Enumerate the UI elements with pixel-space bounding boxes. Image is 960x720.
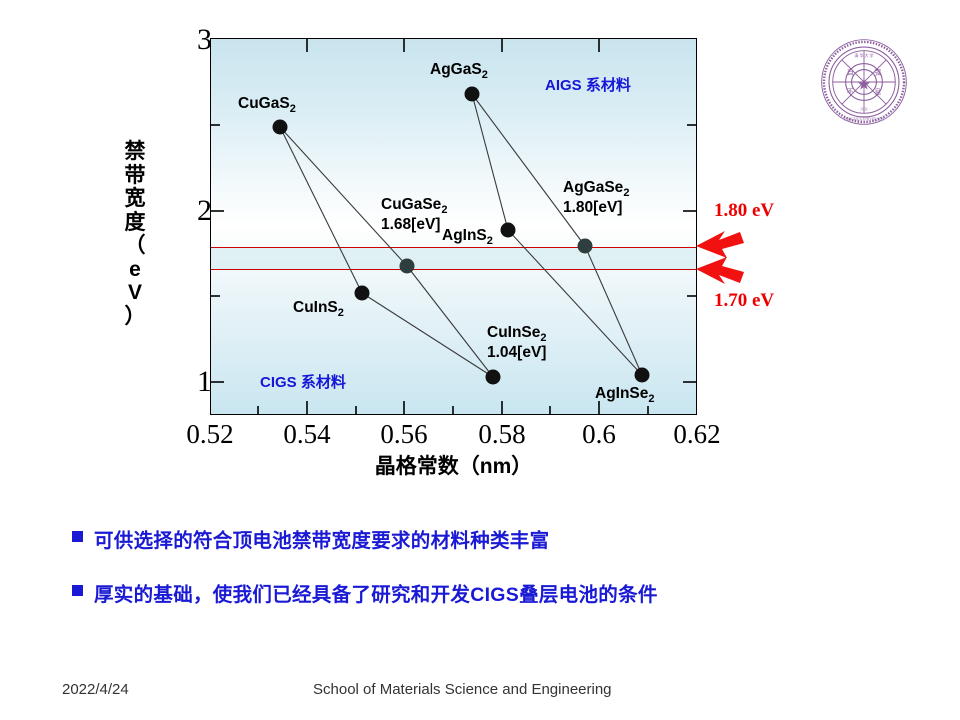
label-aggase2-value: 1.80[eV] <box>563 200 629 216</box>
callout-label-1p80: 1.80 eV <box>714 200 774 222</box>
x-tick-0p58: 0.58 <box>478 419 525 450</box>
x-tick-0p54: 0.54 <box>283 419 330 450</box>
data-point-aginse2[interactable] <box>635 368 650 383</box>
label-cuins2-text: CuInS <box>293 299 338 316</box>
callout-label-1p70: 1.70 eV <box>714 290 774 312</box>
bullet-item-1: 可供选择的符合顶电池禁带宽度要求的材料种类丰富 <box>72 524 549 553</box>
target-bandgap-band <box>211 247 696 269</box>
svg-text:不: 不 <box>847 88 854 96</box>
label-aggase2-sub: 2 <box>623 187 629 199</box>
data-point-cuinse2[interactable] <box>486 370 501 385</box>
bullet-text-1: 可供选择的符合顶电池禁带宽度要求的材料种类丰富 <box>94 524 549 553</box>
x-axis-title: 晶格常数（nm） <box>210 450 697 480</box>
x-tick-0p6: 0.6 <box>582 419 616 450</box>
y-axis-title-char-8: ） <box>118 305 152 329</box>
data-point-cugase2[interactable] <box>400 259 415 274</box>
region-label-cigs: CIGS 系材料 <box>260 371 346 392</box>
label-cuinse2-value: 1.04[eV] <box>487 345 547 361</box>
footer-date: 2022/4/24 <box>62 681 129 698</box>
bullet-square-icon <box>72 585 83 596</box>
svg-text:自: 自 <box>847 68 854 77</box>
label-cugas2-sub: 2 <box>290 103 296 115</box>
label-agins2-text: AgInS <box>442 227 487 244</box>
label-cugase2-sub: 2 <box>441 204 447 216</box>
y-axis-title-char-4: 度 <box>118 211 152 235</box>
label-agins2-sub: 2 <box>487 235 493 247</box>
logo-star-icon: ★ <box>857 76 871 93</box>
data-point-aggas2[interactable] <box>465 87 480 102</box>
label-cugase2-value: 1.68[eV] <box>381 217 447 233</box>
label-aggase2: AgGaSe2 1.80[eV] <box>563 180 629 216</box>
label-aggase2-text: AgGaSe <box>563 179 623 196</box>
data-point-aggase2[interactable] <box>578 239 593 254</box>
label-cuinse2: CuInSe2 1.04[eV] <box>487 325 547 361</box>
svg-text:息: 息 <box>874 87 881 96</box>
data-point-agins2[interactable] <box>501 223 516 238</box>
label-cuinse2-sub: 2 <box>540 332 546 344</box>
bullet-text-2: 厚实的基础，使我们已经具备了研究和开发CIGS叠层电池的条件 <box>94 578 658 607</box>
svg-text:TSINGHUA UNIVERSITY: TSINGHUA UNIVERSITY <box>843 118 885 122</box>
tsinghua-university-seal-logo: ★ 清 华 大 学 · 1911 · TSINGHUA UNIVERSITY 自… <box>818 36 910 128</box>
y-axis-title-char-5: （ <box>118 234 152 258</box>
y-axis-title-char-2: 带 <box>118 164 152 188</box>
label-cuins2: CuInS2 <box>293 300 344 320</box>
label-cugase2: CuGaSe2 1.68[eV] <box>381 197 447 233</box>
label-aginse2: AgInSe2 <box>595 386 655 406</box>
data-point-cugas2[interactable] <box>273 120 288 135</box>
label-cugase2-text: CuGaSe <box>381 196 441 213</box>
label-aggas2-sub: 2 <box>482 69 488 81</box>
callout-arrow-1p70 <box>696 257 744 284</box>
label-aggas2: AgGaS2 <box>430 62 488 82</box>
bullet-item-2: 厚实的基础，使我们已经具备了研究和开发CIGS叠层电池的条件 <box>72 578 658 607</box>
label-cugas2: CuGaS2 <box>238 96 296 116</box>
label-aginse2-text: AgInSe <box>595 385 648 402</box>
y-axis-title-char-3: 宽 <box>118 187 152 211</box>
label-cugas2-text: CuGaS <box>238 95 290 112</box>
hline-1p70 <box>211 269 696 270</box>
y-tick-1: 1 <box>172 365 212 399</box>
y-axis-title: 禁 带 宽 度 （ e V ） <box>118 140 152 328</box>
callout-arrow-1p80 <box>696 231 744 258</box>
y-axis-title-char-6: e <box>118 258 152 282</box>
svg-text:· 1911 ·: · 1911 · <box>858 107 871 112</box>
svg-text:清 华 大 学: 清 华 大 学 <box>854 52 873 58</box>
label-aginse2-sub: 2 <box>648 393 654 405</box>
svg-text:强: 强 <box>874 69 881 77</box>
x-tick-0p56: 0.56 <box>380 419 427 450</box>
footer-organization: School of Materials Science and Engineer… <box>313 681 612 698</box>
y-axis-title-char-7: V <box>118 281 152 305</box>
region-label-aigs: AIGS 系材料 <box>545 74 631 95</box>
x-tick-0p62: 0.62 <box>673 419 720 450</box>
x-tick-0p52: 0.52 <box>186 419 233 450</box>
y-tick-3: 3 <box>172 23 212 57</box>
label-cuins2-sub: 2 <box>338 307 344 319</box>
data-point-cuins2[interactable] <box>355 286 370 301</box>
y-tick-2: 2 <box>172 194 212 228</box>
y-axis-title-char-1: 禁 <box>118 140 152 164</box>
label-agins2: AgInS2 <box>442 228 493 248</box>
label-cuinse2-text: CuInSe <box>487 324 540 341</box>
label-aggas2-text: AgGaS <box>430 61 482 78</box>
bullet-square-icon <box>72 531 83 542</box>
